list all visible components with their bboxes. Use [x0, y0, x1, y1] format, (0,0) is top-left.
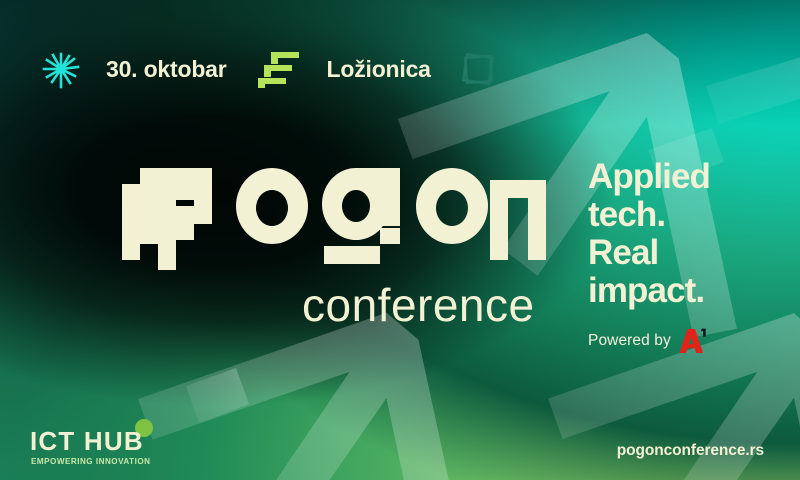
ict-hub-mark: ICT HUB EMPOWERING INNOVATION — [30, 418, 170, 470]
poster-meta-row: 30. oktobar Ložionica — [38, 46, 501, 92]
tagline-line-1: Applied — [588, 158, 798, 196]
ict-hub-name: ICT HUB — [30, 426, 144, 456]
tagline-line-3: Real — [588, 234, 798, 272]
ict-hub-tagline: EMPOWERING INNOVATION — [31, 457, 150, 466]
website-url[interactable]: pogonconference.rs — [617, 442, 764, 460]
starburst-icon — [38, 46, 84, 92]
tagline-line-2: tech. — [588, 196, 798, 234]
a1-logo — [678, 328, 708, 354]
logo-subtitle: conference — [302, 278, 535, 332]
tagline-line-4: impact. — [588, 272, 798, 310]
event-date: 30. oktobar — [106, 56, 227, 83]
event-venue: Ložionica — [327, 56, 431, 83]
conference-poster: 30. oktobar Ložionica — [0, 0, 800, 480]
powered-by-row: Powered by — [588, 328, 798, 354]
rotated-square-icon — [455, 46, 501, 92]
ict-hub-logo: ICT HUB EMPOWERING INNOVATION — [30, 418, 170, 470]
powered-by-label: Powered by — [588, 332, 671, 350]
pogon-logo: conference — [112, 158, 556, 270]
stepped-bars-icon — [257, 50, 301, 88]
pogon-wordmark — [112, 158, 556, 270]
tagline-block: Applied tech. Real impact. Powered by — [588, 158, 798, 354]
